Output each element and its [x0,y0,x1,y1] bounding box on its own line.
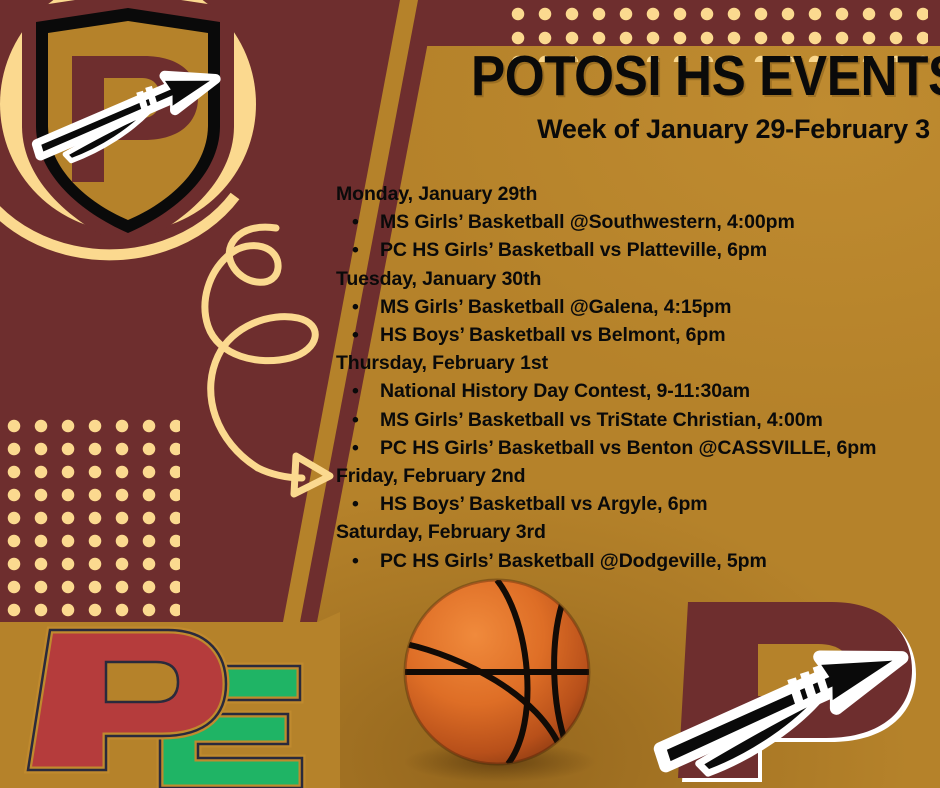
bullet-icon: • [352,490,359,518]
event-item: • HS Boys’ Basketball vs Belmont, 6pm [336,321,936,349]
day-header: Friday, February 2nd [336,462,936,490]
basketball-graphic [390,572,615,788]
event-text: HS Boys’ Basketball vs Argyle, 6pm [380,490,708,518]
events-schedule-list: Monday, January 29th•MS Girls’ Basketbal… [336,180,936,575]
potosi-hs-events-poster: POTOSI HS EVENTS Week of January 29-Febr… [0,0,940,788]
event-text: PC HS Girls’ Basketball vs Platteville, … [380,236,767,264]
event-text: PC HS Girls’ Basketball vs Benton @CASSV… [380,434,876,462]
bullet-icon: • [352,293,359,321]
event-item: •MS Girls’ Basketball @Southwestern, 4:0… [336,208,936,236]
bullet-icon: • [352,547,359,575]
day-header: Monday, January 29th [336,180,936,208]
event-item: •National History Day Contest, 9-11:30am [336,377,936,405]
bullet-icon: • [352,321,359,349]
event-item: • PC HS Girls’ Basketball @Dodgeville, 5… [336,547,936,575]
event-text: MS Girls’ Basketball @Southwestern, 4:00… [380,208,795,236]
potosi-p-spear-logo [640,600,940,788]
day-header: Tuesday, January 30th [336,265,936,293]
dot-pattern-left [4,416,180,622]
page-subtitle: Week of January 29-February 3 [420,113,930,145]
event-text: HS Boys’ Basketball vs Belmont, 6pm [380,321,725,349]
bullet-icon: • [352,406,359,434]
day-header: Thursday, February 1st [336,349,936,377]
swirl-arrow-decoration [178,206,358,506]
bullet-icon: • [352,434,359,462]
bullet-icon: • [352,377,359,405]
event-text: PC HS Girls’ Basketball @Dodgeville, 5pm [380,547,767,575]
event-item: •MS Girls’ Basketball @Galena, 4:15pm [336,293,936,321]
event-text: National History Day Contest, 9-11:30am [380,377,750,405]
event-item: • PC HS Girls’ Basketball vs Benton @CAS… [336,434,936,462]
page-title: POTOSI HS EVENTS [471,46,930,106]
event-item: •MS Girls’ Basketball vs TriState Christ… [336,406,936,434]
day-header: Saturday, February 3rd [336,518,936,546]
event-item: • HS Boys’ Basketball vs Argyle, 6pm [336,490,936,518]
bullet-icon: • [352,236,359,264]
bullet-icon: • [352,208,359,236]
event-text: MS Girls’ Basketball vs TriState Christi… [380,406,823,434]
event-item: •PC HS Girls’ Basketball vs Platteville,… [336,236,936,264]
event-text: MS Girls’ Basketball @Galena, 4:15pm [380,293,731,321]
pc-combined-logo [10,622,330,788]
